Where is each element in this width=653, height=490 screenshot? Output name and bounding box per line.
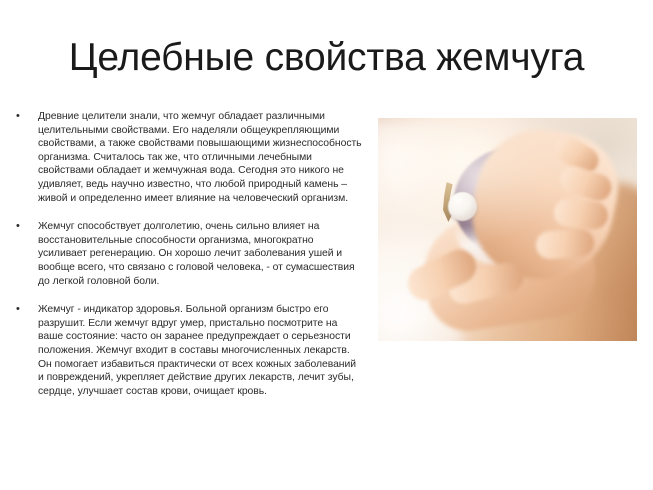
list-item-text: Жемчуг - индикатор здоровья. Больной орг…	[38, 303, 362, 398]
pearl-shell-photo	[378, 118, 637, 341]
slide-body-content: • Древние целители знали, что жемчуг обл…	[12, 110, 362, 398]
bullet-icon: •	[16, 110, 20, 124]
photo-pearl	[448, 192, 477, 221]
presentation-slide: Целебные свойства жемчуга • Древние цели…	[0, 0, 653, 490]
list-item-text: Древние целители знали, что жемчуг облад…	[38, 110, 362, 205]
list-item-text: Жемчуг способствует долголетию, очень си…	[38, 220, 362, 288]
list-item: • Древние целители знали, что жемчуг обл…	[12, 110, 362, 205]
list-item: • Жемчуг способствует долголетию, очень …	[12, 220, 362, 288]
bullet-icon: •	[16, 220, 20, 234]
photo-finger	[535, 228, 595, 260]
bullet-icon: •	[16, 303, 20, 317]
list-item: • Жемчуг - индикатор здоровья. Больной о…	[12, 303, 362, 398]
page-title: Целебные свойства жемчуга	[0, 36, 653, 80]
